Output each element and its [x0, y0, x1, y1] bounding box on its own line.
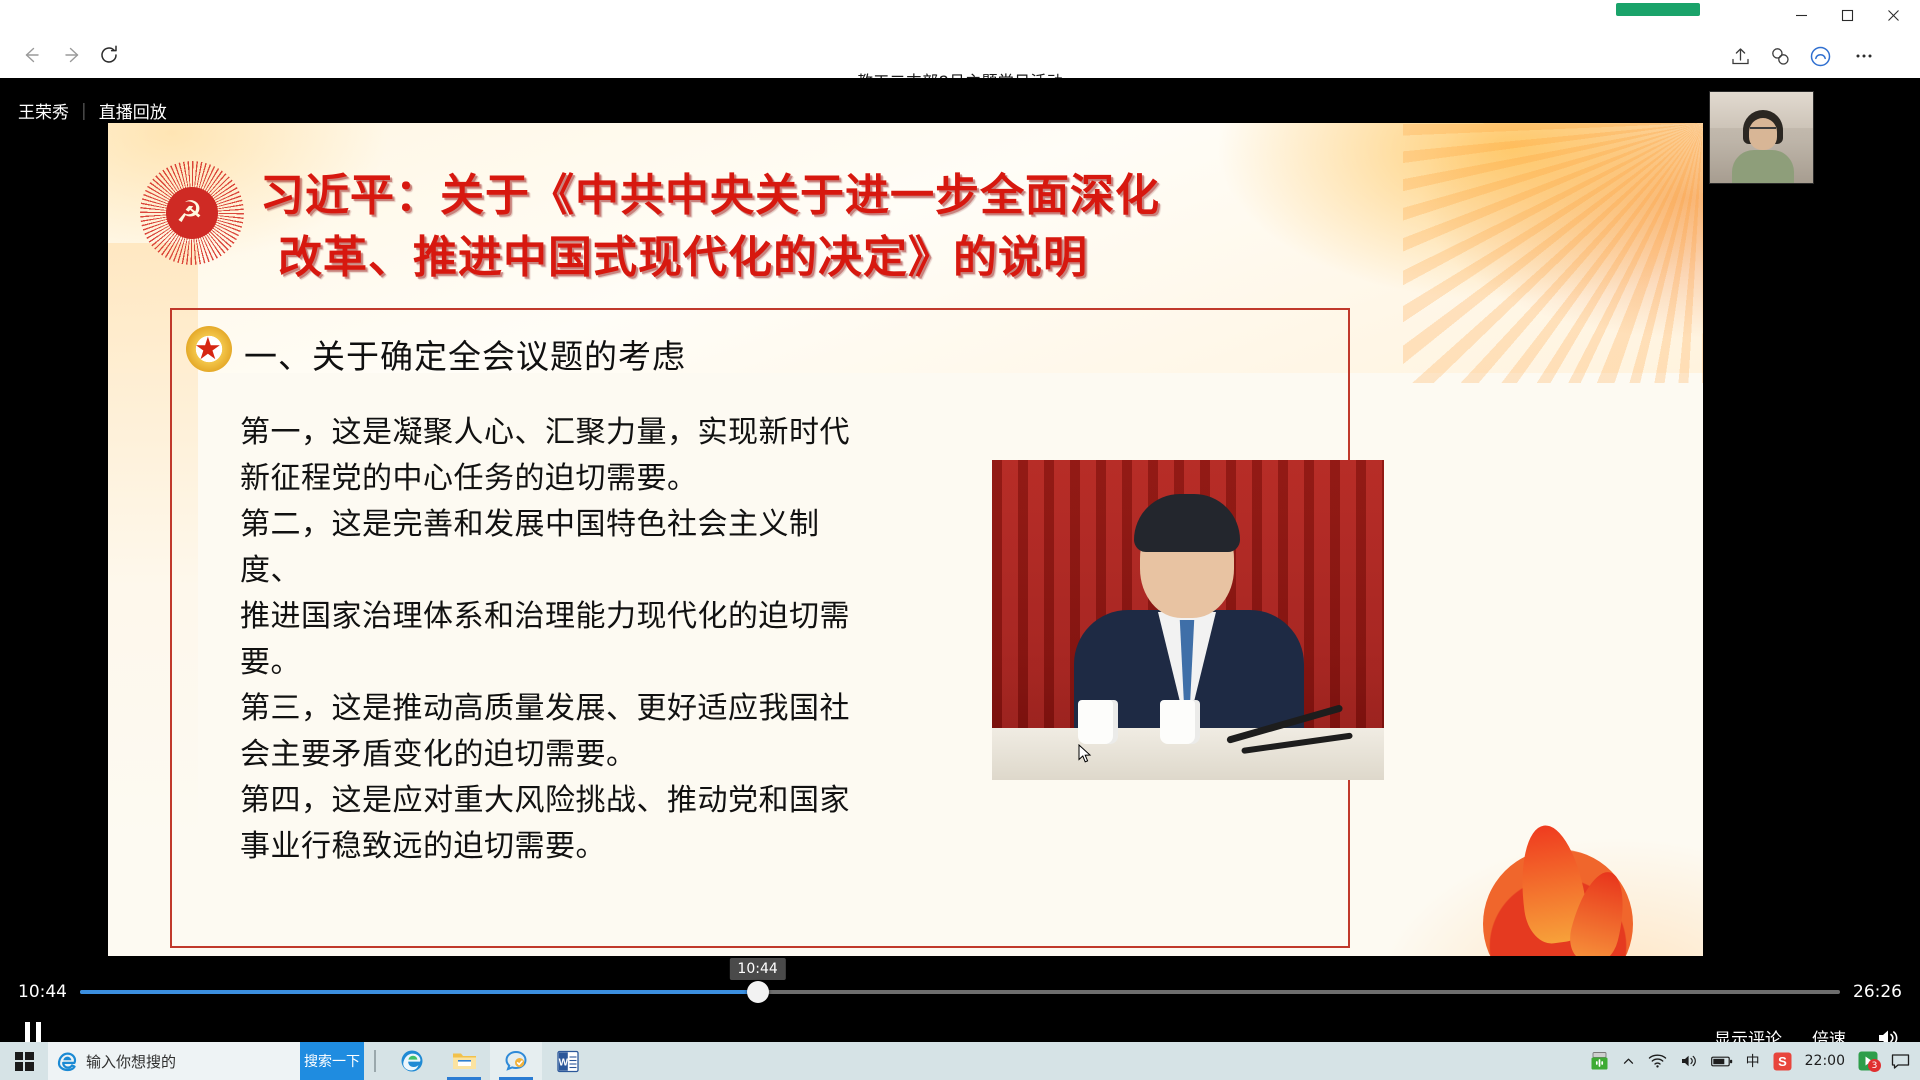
slide-body-text: 第一，这是凝聚人心、汇聚力量，实现新时代 新征程党的中心任务的迫切需要。 第二，…	[240, 410, 880, 870]
more-options-icon	[1854, 46, 1874, 66]
more-options-button[interactable]	[1846, 38, 1882, 74]
maximize-button[interactable]	[1824, 0, 1870, 30]
share-button[interactable]	[1722, 38, 1758, 74]
battery-icon	[1711, 1055, 1733, 1068]
notifications-button[interactable]	[1891, 1053, 1910, 1070]
wifi-icon	[1648, 1053, 1667, 1069]
label-separator: |	[81, 101, 87, 121]
slide-title-line2: 改革、推进中国式现代化的决定》的说明	[260, 227, 1520, 289]
progress-bar[interactable]: 10:44	[80, 990, 1840, 994]
start-button[interactable]	[0, 1042, 48, 1080]
taskbar-app-chat[interactable]	[490, 1042, 542, 1080]
copilot-icon	[1809, 45, 1832, 68]
browser-toolbar: 教工二支部8月主题党日活动	[0, 30, 1920, 78]
party-emblem-icon: ☭	[140, 161, 244, 265]
notifications-icon	[1891, 1053, 1910, 1070]
share-icon	[1730, 46, 1751, 67]
body-line: 事业行稳致远的迫切需要。	[240, 824, 880, 870]
reload-button[interactable]	[92, 38, 126, 72]
minimize-icon	[1795, 9, 1808, 22]
svg-text:S: S	[1778, 1054, 1787, 1069]
chat-app-icon	[503, 1048, 529, 1074]
sogou-input-button[interactable]: S	[1773, 1052, 1792, 1071]
close-icon	[1887, 9, 1900, 22]
collections-button[interactable]	[1762, 38, 1798, 74]
progress-handle[interactable]	[747, 981, 769, 1003]
sogou-icon: S	[1773, 1052, 1792, 1071]
back-arrow-icon	[20, 44, 42, 66]
taskbar-search-box[interactable]: 输入你想搜的 搜索一下	[48, 1042, 364, 1080]
body-line: 新征程党的中心任务的迫切需要。	[240, 456, 880, 502]
taskbar-divider	[374, 1050, 376, 1072]
collections-icon	[1770, 46, 1791, 67]
copilot-button[interactable]	[1802, 38, 1838, 74]
windows-logo-icon	[15, 1052, 34, 1071]
windows-taskbar: 输入你想搜的 搜索一下 W	[0, 1042, 1920, 1080]
maximize-icon	[1841, 9, 1854, 22]
ie-glyph	[55, 1049, 79, 1073]
body-line: 第四，这是应对重大风险挑战、推动党和国家	[240, 778, 880, 824]
slide-title: 习近平：关于《中共中央关于进一步全面深化 改革、推进中国式现代化的决定》的说明	[260, 165, 1520, 289]
search-submit-button[interactable]: 搜索一下	[300, 1042, 364, 1080]
star-badge-icon: ★	[186, 326, 232, 372]
back-button[interactable]	[14, 38, 48, 72]
svg-text:W: W	[559, 1057, 569, 1068]
volume-tray-button[interactable]	[1680, 1053, 1698, 1069]
forward-button[interactable]	[56, 38, 90, 72]
cursor-icon	[1078, 744, 1092, 764]
taskbar-app-edge[interactable]	[386, 1042, 438, 1080]
word-icon: W	[556, 1049, 580, 1074]
forward-arrow-icon	[62, 44, 84, 66]
webcam-body	[1732, 150, 1794, 184]
video-player-surface[interactable]: 王荣秀 | 直播回放 ☭ 习近平：关于《中共中央关于进一步全面深化 改革、推进中…	[0, 78, 1920, 1048]
body-line: 第二，这是完善和发展中国特色社会主义制度、	[240, 502, 880, 594]
photo-cup	[1160, 700, 1200, 744]
stream-status: 直播回放	[99, 98, 167, 123]
internet-explorer-icon	[54, 1048, 80, 1074]
progress-hover-tooltip: 10:44	[729, 958, 785, 980]
body-line: 第一，这是凝聚人心、汇聚力量，实现新时代	[240, 410, 880, 456]
browser-title-bar	[0, 0, 1920, 30]
tab-strip-accent[interactable]	[1616, 3, 1700, 16]
taskbar-app-word[interactable]: W	[542, 1042, 594, 1080]
photo-cup	[1078, 700, 1118, 744]
body-line: 第三，这是推动高质量发展、更好适应我国社	[240, 686, 880, 732]
webcam-glasses	[1750, 127, 1776, 134]
red-star-icon: ★	[194, 333, 222, 365]
taskbar-app-file-explorer[interactable]	[438, 1042, 490, 1080]
slide-content-box: ★ 一、关于确定全会议题的考虑 第一，这是凝聚人心、汇聚力量，实现新时代 新征程…	[170, 308, 1350, 948]
hammer-sickle-icon: ☭	[176, 197, 203, 229]
current-time: 10:44	[18, 982, 67, 1002]
ime-language-button[interactable]: 中	[1746, 1051, 1760, 1071]
section-heading: 一、关于确定全会议题的考虑	[244, 330, 686, 378]
show-hidden-icons-button[interactable]	[1622, 1055, 1635, 1068]
progress-filled	[80, 990, 758, 994]
presenter-name: 王荣秀	[18, 98, 69, 123]
search-input[interactable]: 输入你想搜的	[86, 1051, 176, 1072]
minimize-button[interactable]	[1778, 0, 1824, 30]
mouse-cursor	[1078, 744, 1092, 764]
media-badge-count: 3	[1868, 1059, 1881, 1072]
body-line: 要。	[240, 640, 880, 686]
edge-icon	[399, 1048, 425, 1074]
body-line: 推进国家治理体系和治理能力现代化的迫切需	[240, 594, 880, 640]
taskbar-clock[interactable]: 22:00	[1805, 1053, 1845, 1069]
stream-info: 王荣秀 | 直播回放	[18, 98, 167, 123]
speaker-icon	[1680, 1053, 1698, 1069]
body-line: 会主要矛盾变化的迫切需要。	[240, 732, 880, 778]
presenter-webcam-thumbnail[interactable]	[1709, 91, 1814, 184]
chevron-up-icon	[1622, 1055, 1635, 1068]
total-time: 26:26	[1853, 982, 1902, 1002]
system-tray: 中 S 22:00 3	[1590, 1042, 1920, 1080]
presentation-slide: ☭ 习近平：关于《中共中央关于进一步全面深化 改革、推进中国式现代化的决定》的说…	[108, 123, 1703, 1003]
usb-icon	[1590, 1051, 1609, 1071]
slide-title-line1: 习近平：关于《中共中央关于进一步全面深化	[260, 170, 1160, 221]
media-tray-button[interactable]: 3	[1858, 1051, 1878, 1071]
battery-button[interactable]	[1711, 1055, 1733, 1068]
reload-icon	[97, 43, 121, 67]
close-button[interactable]	[1870, 0, 1916, 30]
network-button[interactable]	[1648, 1053, 1667, 1069]
usb-safely-remove-button[interactable]	[1590, 1051, 1609, 1071]
speaker-photo	[992, 460, 1384, 780]
webcam-face	[1749, 118, 1777, 150]
file-explorer-icon	[451, 1049, 478, 1073]
